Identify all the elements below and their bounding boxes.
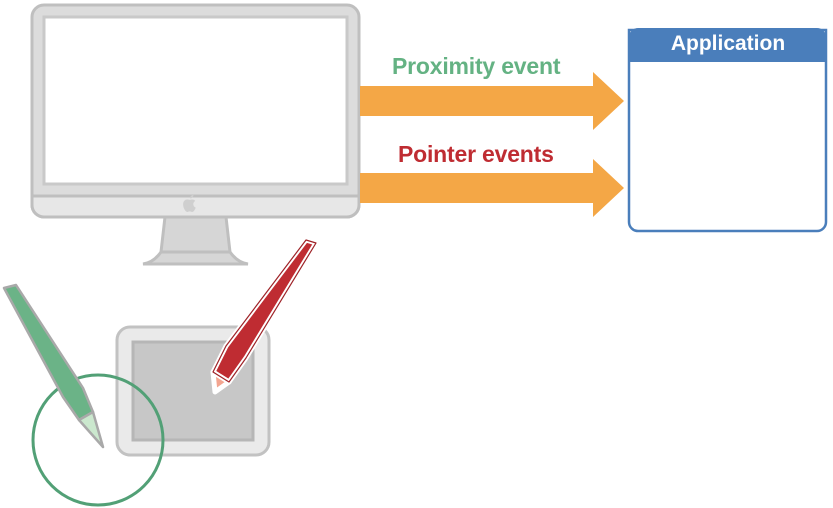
application-window-title: Application [628,28,828,60]
proximity-stylus [4,285,103,447]
display-chin [32,196,359,217]
display-screen [44,17,347,184]
imac-display [32,5,359,264]
proximity-event-label: Proximity event [392,53,560,80]
proximity-event-arrow [360,72,624,130]
diagram-canvas: Proximity event Pointer events Applicati… [0,0,833,508]
display-stand-foot [143,252,248,264]
display-stand-neck [161,217,230,252]
pointer-events-label: Pointer events [398,141,554,168]
proximity-stylus-tip [79,412,103,447]
